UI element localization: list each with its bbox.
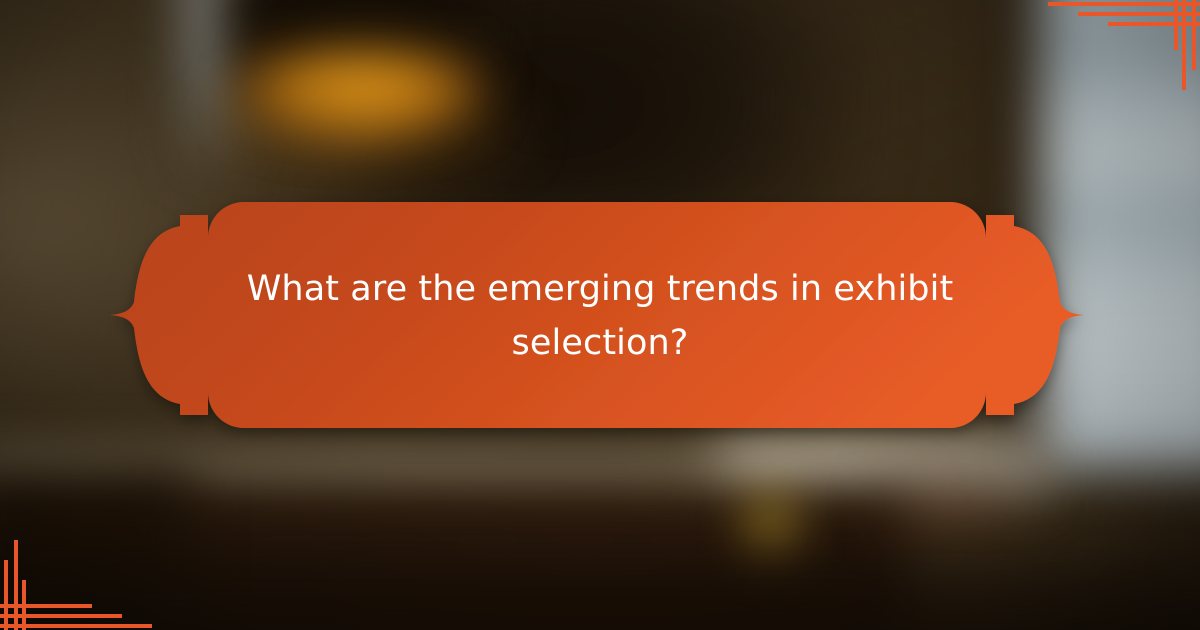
question-line-1: What are the emerging trends in exhibit: [247, 262, 954, 316]
question-line-2: selection?: [512, 316, 689, 370]
question-text: What are the emerging trends in exhibit …: [215, 198, 985, 434]
question-card-banner: What are the emerging trends in exhibit …: [0, 0, 1200, 630]
